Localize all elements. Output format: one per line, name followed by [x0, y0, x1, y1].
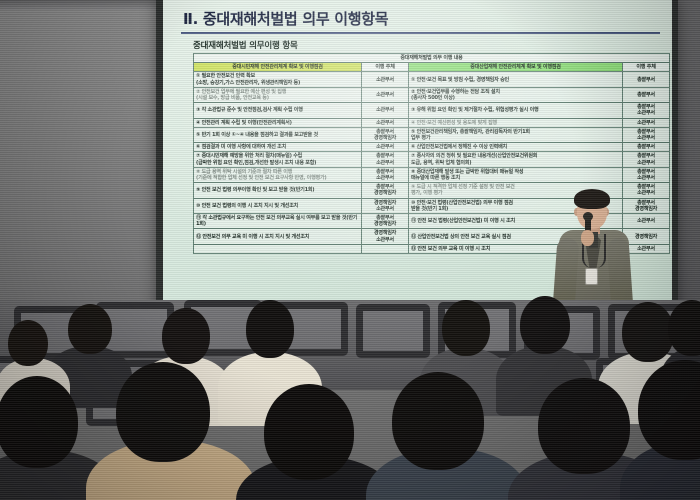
- cell-left-item: ⑪ 각 소관법규에서 요구하는 안전 보건 의무교육 실시 여부를 보고 받을 …: [194, 214, 362, 229]
- cell-right-item: ① 안전·보건 목표 및 방침 수립, 경영책임자 승인: [409, 72, 623, 87]
- table-row: ① 필요한 안전보건 인력 확보 (소방, 승강기,가스 안전관리자, 위생관리…: [194, 72, 670, 87]
- audience-member: [366, 372, 516, 500]
- cell-left-item: ⑤ 반기 1회 이상 ①~④ 내용을 점검하고 결과를 보고받을 것: [194, 127, 362, 142]
- cell-left-item: ③ 각 소관법규 준수 및 안전점검,검사 계획 수립 이행: [194, 103, 362, 118]
- table-row: ② 안전보건 업무에 필요한 예산 편성 및 집행 (시설 보수, 방급 비품,…: [194, 87, 670, 102]
- cell-right-subject: 총괄부서 소관부서: [623, 167, 670, 182]
- cell-right-item: ⑥ 산업안전보건법에서 정해진 수 이상 인력배치: [409, 143, 623, 152]
- id-badge-icon: [585, 268, 598, 285]
- cell-left-subject: 경영책임자 소관부서: [362, 198, 409, 213]
- presenter-hair: [574, 189, 610, 209]
- wall-left: [0, 0, 158, 318]
- cell-left-item: ⑩ 안전 보건 법령의 이행 시 조치 지시 및 개선조치: [194, 198, 362, 213]
- audience-member: [620, 360, 700, 500]
- cell-right-item: ④ 안전·보건 예산편성 및 용도에 맞게 집행: [409, 118, 623, 127]
- cell-right-item: ⑦ 종사자의 의견 청취 및 필요한 내용개선(산업안전보건위원회 도급, 용역…: [409, 152, 623, 167]
- table-row: ③ 각 소관법규 준수 및 안전점검,검사 계획 수립 이행소관부서③ 유해 위…: [194, 103, 670, 118]
- header-right-subject: 이행 주체: [623, 63, 670, 72]
- microphone-head-icon: [583, 212, 593, 221]
- table-row: ⑤ 반기 1회 이상 ①~④ 내용을 점검하고 결과를 보고받을 것총괄부서 경…: [194, 127, 670, 142]
- cell-left-subject: 소관부서: [362, 72, 409, 87]
- cell-left-subject: 총괄부서 경영책임자: [362, 183, 409, 198]
- table-header-row: 중대시민재해 안전관리체계 확보 및 이행점검 이행 주체 중대산업재해 안전관…: [194, 63, 670, 72]
- cell-left-item: ④ 안전관리 계획 수립 및 이행(안전관리계획서): [194, 118, 362, 127]
- cell-left-subject: 소관부서: [362, 118, 409, 127]
- wall-right: [676, 0, 700, 322]
- cell-right-subject: 총괄부서 소관부서: [623, 152, 670, 167]
- cell-left-subject: 총괄부서 경영책임자: [362, 127, 409, 142]
- cell-left-subject: 소관부서: [362, 143, 409, 152]
- cell-right-subject: 소관부서: [623, 118, 670, 127]
- table-row: ⑦ 중대시민재해 예방을 위한 처리 절차(매뉴얼) 수립 (급박한 위험 요인…: [194, 152, 670, 167]
- cell-left-item: ① 필요한 안전보건 인력 확보 (소방, 승강기,가스 안전관리자, 위생관리…: [194, 72, 362, 87]
- cell-left-subject: 소관부서: [362, 103, 409, 118]
- table-band-header: 중대재해처벌법 의무 이행 내용: [194, 54, 670, 63]
- header-left-subject: 이행 주체: [362, 63, 409, 72]
- table-row: ⑥ 점검결과 미 이행 사항에 대하여 개선 조치소관부서⑥ 산업안전보건법에서…: [194, 143, 670, 152]
- cell-left-subject: [362, 244, 409, 253]
- cell-left-item: [194, 244, 362, 253]
- cell-left-subject: 총괄부서 경영책임자: [362, 214, 409, 229]
- cell-right-item: ② 안전·보건업무를 수행하는 전담 조직 설치 (종사자 500인 이상): [409, 87, 623, 102]
- cell-left-subject: 총괄부서 소관부서: [362, 167, 409, 182]
- cell-right-subject: 총괄부서: [623, 87, 670, 102]
- cell-left-subject: 총괄부서 소관부서: [362, 152, 409, 167]
- cell-right-item: ⑧ 중대산업재해 발생 또는 급박한 위험대비 매뉴얼 작성 매뉴얼에 따른 행…: [409, 167, 623, 182]
- header-right-group: 중대산업재해 안전관리체계 확보 및 이행점검: [409, 63, 623, 72]
- cell-right-subject: 총괄부서 소관부서: [623, 127, 670, 142]
- cell-left-subject: 경영책임자 소관부서: [362, 229, 409, 244]
- table-row: ④ 안전관리 계획 수립 및 이행(안전관리계획서)소관부서④ 안전·보건 예산…: [194, 118, 670, 127]
- table-row: ⑧ 도급 용역 위탁 시설의 기준과 절차 따른 이행 (기준에 적합한 업체 …: [194, 167, 670, 182]
- lecture-hall-scene: Ⅱ. 중대재해처벌법 의무 이행항목 중대재해처벌법 의무이행 항목 중대재해처…: [0, 0, 700, 500]
- cell-right-subject: 총괄부서: [623, 72, 670, 87]
- audience-member: [86, 362, 246, 500]
- cell-left-item: ⑫ 안전보건 의무 교육 미 이행 시 조치 지시 및 개선조치: [194, 229, 362, 244]
- cell-right-item: ⑤ 안전보건관리책임자, 총괄책임자, 관리감독자의 반기1회 업무 평가: [409, 127, 623, 142]
- title-underline: [181, 32, 660, 34]
- slide-title: Ⅱ. 중대재해처벌법 의무 이행항목: [183, 8, 664, 29]
- header-left-group: 중대시민재해 안전관리체계 확보 및 이행점검: [194, 63, 362, 72]
- cell-left-item: ⑧ 도급 용역 위탁 시설의 기준과 절차 따른 이행 (기준에 적합한 업체 …: [194, 167, 362, 182]
- presenter-hand: [581, 230, 594, 246]
- table-band-row: 중대재해처벌법 의무 이행 내용: [194, 54, 670, 63]
- cell-left-item: ⑥ 점검결과 미 이행 사항에 대하여 개선 조치: [194, 143, 362, 152]
- cell-right-subject: 총괄부서: [623, 143, 670, 152]
- cell-left-item: ② 안전보건 업무에 필요한 예산 편성 및 집행 (시설 보수, 방급 비품,…: [194, 87, 362, 102]
- slide-subtitle: 중대재해처벌법 의무이행 항목: [193, 39, 664, 51]
- cell-right-subject: 총괄부서 소관부서: [623, 103, 670, 118]
- cell-left-item: ⑨ 안전 보건 법령 의무이행 확인 및 보고 받을 것(반기1회): [194, 183, 362, 198]
- cell-right-item: ③ 유해 위험 요인 확인 및 제거절차 수립, 위험성평가 실시 이행: [409, 103, 623, 118]
- audience-member: [236, 384, 386, 500]
- cell-left-item: ⑦ 중대시민재해 예방을 위한 처리 절차(매뉴얼) 수립 (급박한 위험 요인…: [194, 152, 362, 167]
- cell-left-subject: 소관부서: [362, 87, 409, 102]
